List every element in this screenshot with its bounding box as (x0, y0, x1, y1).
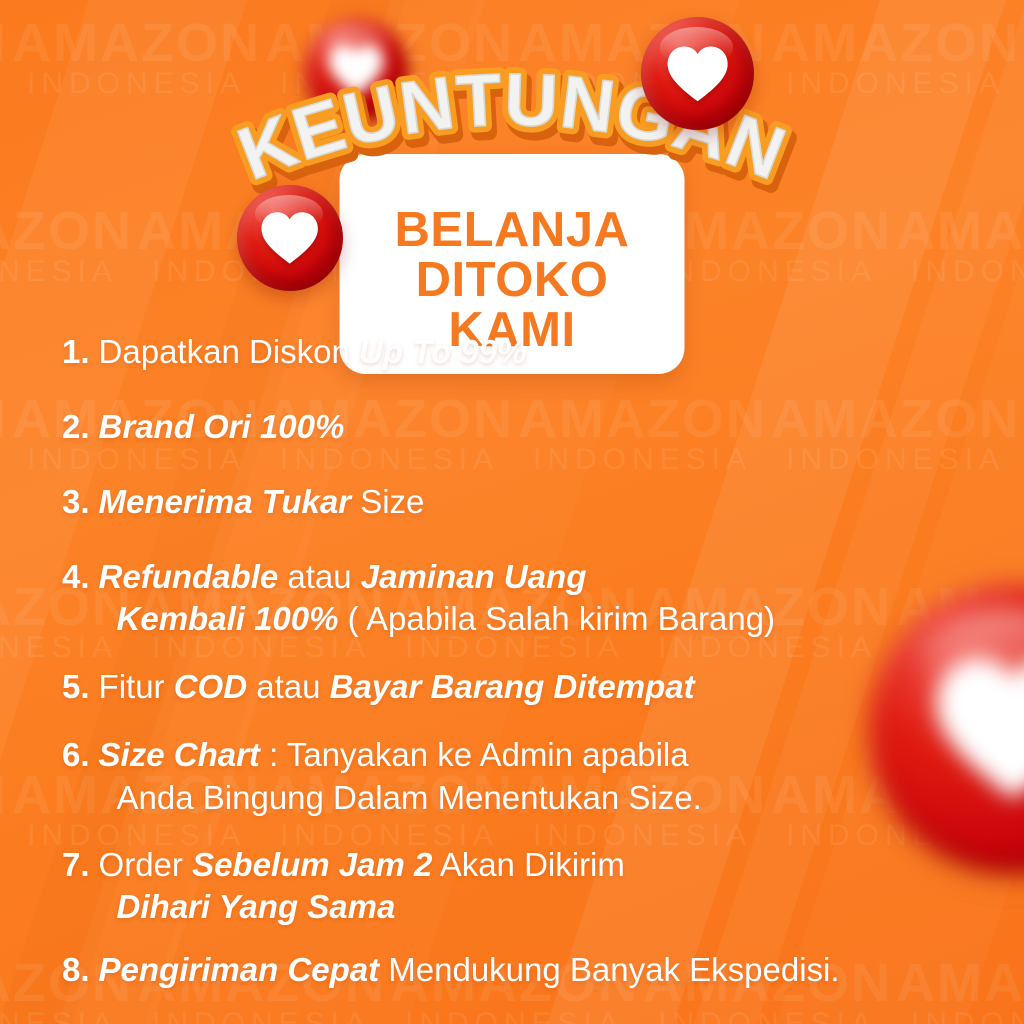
benefit-emphasis: Bayar Barang Ditempat (330, 668, 695, 705)
panel-line-1: BELANJA (370, 206, 655, 256)
benefit-emphasis: COD (174, 668, 247, 705)
benefit-emphasis: Jaminan Uang (361, 558, 587, 595)
benefit-emphasis: Dihari Yang Sama (117, 888, 396, 925)
benefit-number: 6. (62, 734, 99, 818)
benefit-line: Order Sebelum Jam 2 Akan Dikirim (99, 844, 992, 886)
benefit-plain: Order (99, 846, 193, 883)
benefit-plain: Size (351, 483, 424, 520)
benefit-text: Refundable atau Jaminan UangKembali 100%… (99, 556, 992, 640)
benefit-emphasis: Menerima Tukar (99, 483, 352, 520)
heart-badge-top-right (641, 17, 754, 130)
benefit-emphasis: Brand Ori 100% (99, 408, 345, 445)
benefit-text: Order Sebelum Jam 2 Akan DikirimDihari Y… (99, 844, 992, 928)
benefit-number: 3. (62, 481, 99, 523)
benefit-number: 5. (62, 666, 99, 708)
benefit-plain: atau (247, 668, 330, 705)
benefit-line: Refundable atau Jaminan Uang (99, 556, 992, 598)
benefits-list: 1.Dapatkan Diskon Up To 99%2.Brand Ori 1… (62, 331, 992, 1015)
benefit-emphasis: Sebelum Jam 2 (192, 846, 432, 883)
benefit-number: 1. (62, 331, 99, 373)
benefit-line: Kembali 100% ( Apabila Salah kirim Baran… (99, 598, 992, 640)
benefit-line: Brand Ori 100% (99, 406, 992, 448)
benefit-plain: Fitur (99, 668, 174, 705)
benefit-item: 1.Dapatkan Diskon Up To 99% (62, 331, 992, 373)
headline-lockup: BELANJA DITOKO KAMI KEUNTUNGAN KEUNTUNGA… (0, 78, 1024, 308)
watermark-primary: AMAZON (10, 18, 263, 70)
benefit-item: 8. Pengiriman Cepat Mendukung Banyak Eks… (62, 949, 992, 991)
watermark-primary: AMAZON (769, 18, 1022, 70)
benefit-line: Dapatkan Diskon Up To 99% (99, 331, 992, 373)
benefit-number: 7. (62, 844, 99, 928)
benefit-number: 4. (62, 556, 99, 640)
benefit-text: Fitur COD atau Bayar Barang Ditempat (99, 666, 992, 708)
benefit-emphasis: Up To 99% (359, 333, 526, 370)
benefit-emphasis: Kembali 100% (117, 600, 339, 637)
benefit-line: Pengiriman Cepat Mendukung Banyak Eksped… (99, 949, 992, 991)
benefit-plain: Dapatkan Diskon (99, 333, 359, 370)
heart-badge-left (237, 185, 343, 291)
benefit-number: 2. (62, 406, 99, 448)
benefit-plain: Mendukung Banyak Ekspedisi. (379, 951, 839, 988)
promo-poster: AMAZONINDONESIAAMAZONINDONESIAAMAZONINDO… (0, 0, 1024, 1024)
benefit-emphasis: Size Chart (99, 736, 260, 773)
benefit-item: 4. Refundable atau Jaminan UangKembali 1… (62, 556, 992, 640)
benefit-line: Dihari Yang Sama (99, 886, 992, 928)
watermark-text: AMAZONINDONESIA (0, 770, 10, 851)
benefit-item: 3.Menerima Tukar Size (62, 481, 992, 523)
benefit-item: 2.Brand Ori 100% (62, 406, 992, 448)
benefit-line: Menerima Tukar Size (99, 481, 992, 523)
benefit-text: Pengiriman Cepat Mendukung Banyak Eksped… (99, 949, 992, 991)
benefit-text: Size Chart : Tanyakan ke Admin apabilaAn… (99, 734, 992, 818)
benefit-plain: ( Apabila Salah kirim Barang) (338, 600, 775, 637)
watermark-text: AMAZONINDONESIA (0, 394, 10, 475)
watermark-primary: AMAZON (0, 394, 10, 446)
benefit-line: Size Chart : Tanyakan ke Admin apabila (99, 734, 992, 776)
benefit-line: Fitur COD atau Bayar Barang Ditempat (99, 666, 992, 708)
benefit-emphasis: Refundable (99, 558, 279, 595)
benefit-number: 8. (62, 949, 99, 991)
benefit-text: Dapatkan Diskon Up To 99% (99, 331, 992, 373)
watermark-secondary: INDONESIA (0, 822, 10, 851)
heart-icon (666, 42, 729, 105)
benefit-item: 6. Size Chart : Tanyakan ke Admin apabil… (62, 734, 992, 818)
benefit-item: 5. Fitur COD atau Bayar Barang Ditempat (62, 666, 992, 708)
watermark-primary: AMAZON (0, 770, 10, 822)
benefit-text: Menerima Tukar Size (99, 481, 992, 523)
benefit-line: Anda Bingung Dalam Menentukan Size. (99, 777, 992, 819)
watermark-primary: AMAZON (0, 18, 10, 70)
benefit-item: 7. Order Sebelum Jam 2 Akan DikirimDihar… (62, 844, 992, 928)
heart-icon (260, 208, 319, 267)
benefit-plain: Anda Bingung Dalam Menentukan Size. (117, 779, 702, 816)
benefit-plain: atau (278, 558, 361, 595)
benefit-plain: Akan Dikirim (432, 846, 625, 883)
benefit-text: Brand Ori 100% (99, 406, 992, 448)
watermark-secondary: INDONESIA (0, 446, 10, 475)
benefit-emphasis: Pengiriman Cepat (99, 951, 380, 988)
benefit-plain: : Tanyakan ke Admin apabila (260, 736, 689, 773)
